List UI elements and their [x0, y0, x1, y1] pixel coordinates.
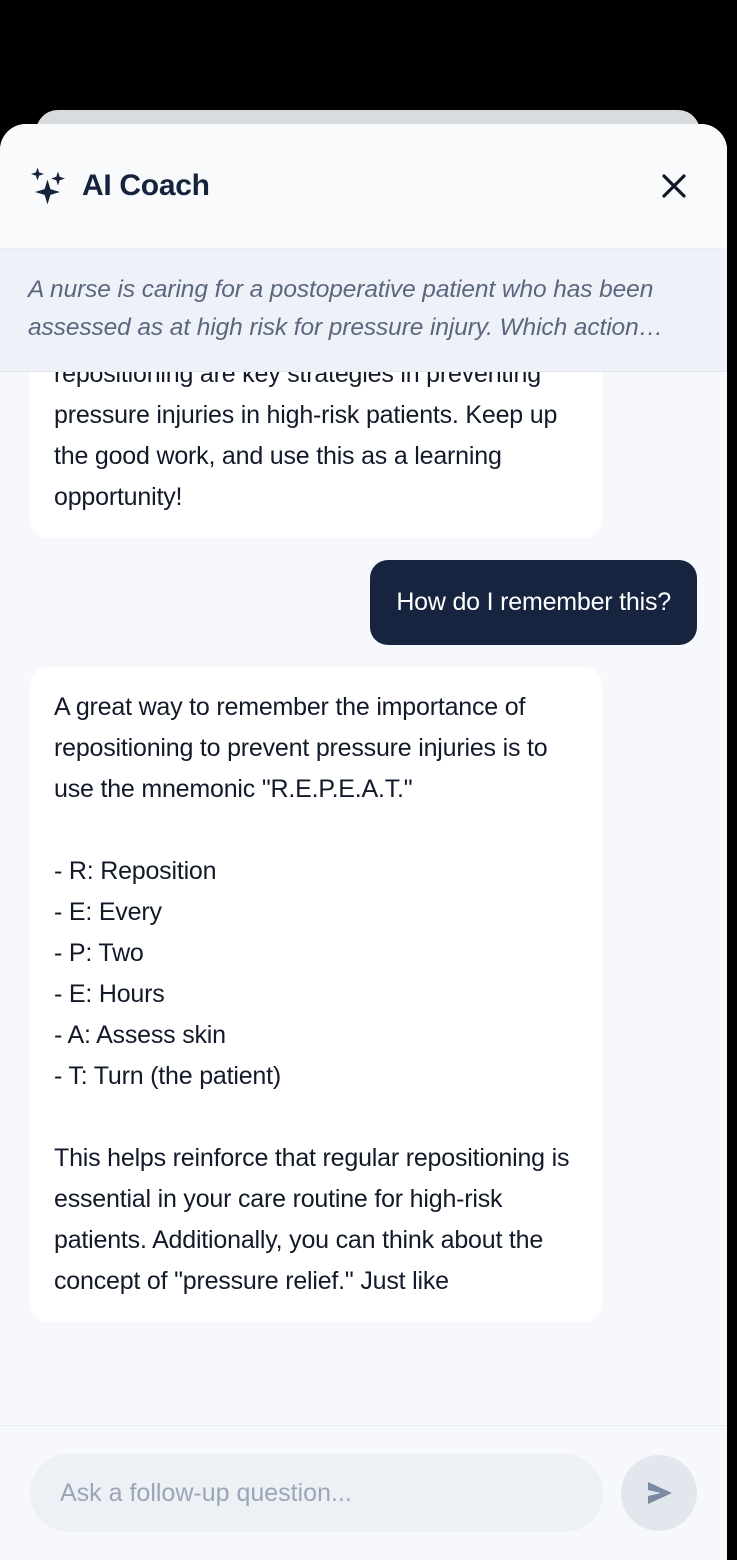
message-list[interactable]: repositioning are key strategies in prev… [0, 372, 727, 1425]
follow-up-input[interactable] [30, 1454, 603, 1532]
close-button[interactable] [651, 163, 697, 209]
ai-message-bubble: A great way to remember the importance o… [30, 667, 602, 1322]
question-banner: A nurse is caring for a postoperative pa… [0, 249, 727, 372]
brand-group: AI Coach [26, 165, 210, 207]
sparkles-icon [26, 165, 68, 207]
screen-root: AI Coach A nurse is caring for a postope… [0, 0, 737, 1560]
message-row-ai: repositioning are key strategies in prev… [30, 372, 697, 538]
question-text: A nurse is caring for a postoperative pa… [28, 271, 699, 347]
ai-coach-modal-sheet: AI Coach A nurse is caring for a postope… [0, 124, 727, 1560]
message-row-ai: A great way to remember the importance o… [30, 667, 697, 1322]
user-message-bubble: How do I remember this? [370, 560, 697, 645]
send-icon [641, 1475, 677, 1511]
composer-bar [0, 1425, 727, 1560]
message-row-user: How do I remember this? [30, 560, 697, 645]
input-wrapper [30, 1454, 603, 1532]
close-icon [660, 172, 688, 200]
send-button[interactable] [621, 1455, 697, 1531]
page-title: AI Coach [82, 169, 210, 203]
modal-header: AI Coach [0, 124, 727, 249]
message-scroll-container: repositioning are key strategies in prev… [30, 372, 697, 1344]
ai-message-bubble: repositioning are key strategies in prev… [30, 372, 602, 538]
